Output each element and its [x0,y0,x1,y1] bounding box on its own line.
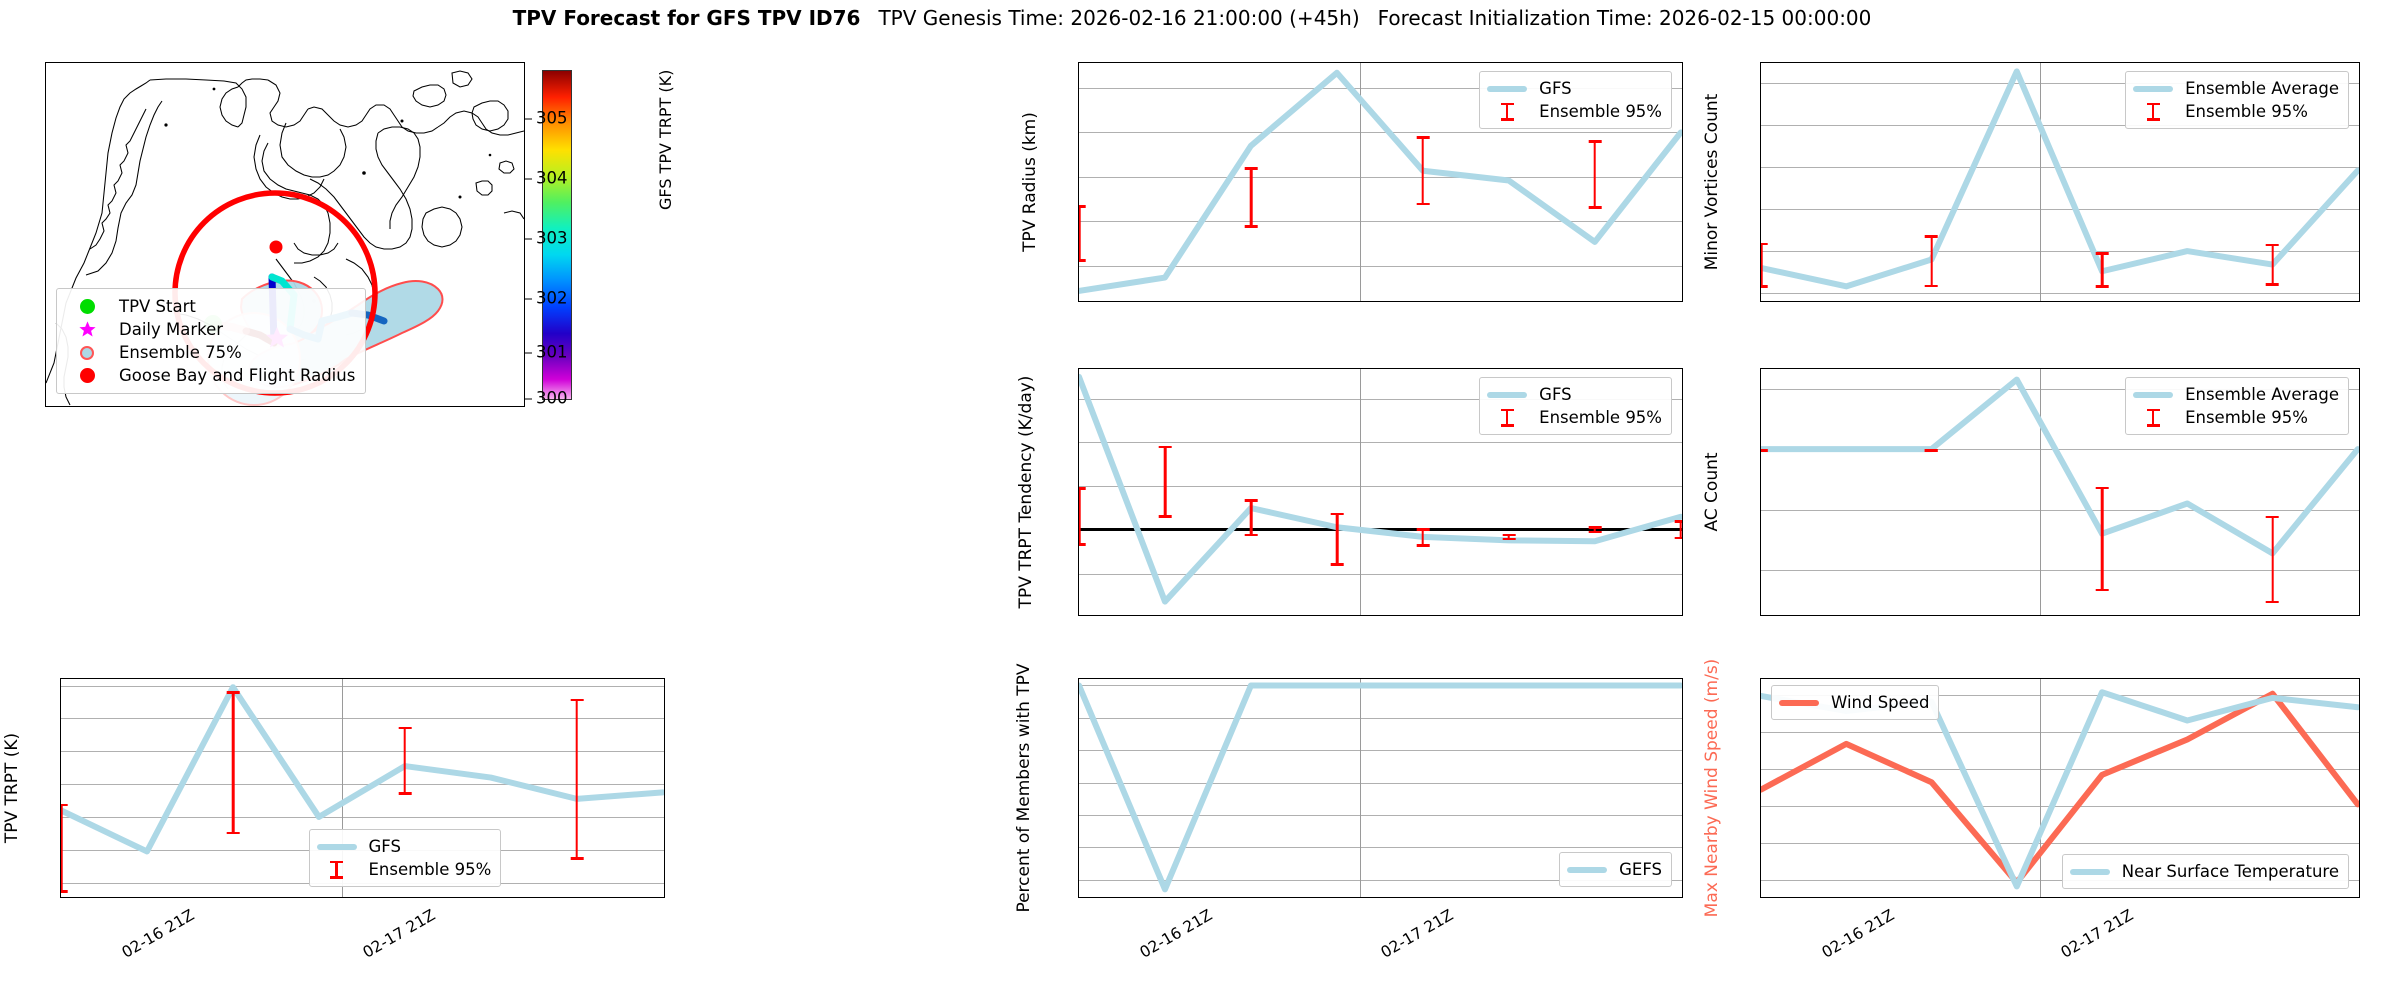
percent_members-ylabel: Percent of Members with TPV [1014,663,1034,912]
legend-line-swatch [2133,392,2173,398]
trpt_tendency-panel: −5051015GFSEnsemble 95%TPV TRPT Tendency… [1078,368,1683,616]
percent_members-axes[interactable]: 97.097.598.098.599.099.5100.0GEFS [1078,678,1683,898]
page-title: TPV Forecast for GFS TPV ID76TPV Genesis… [0,6,2384,30]
legend-error-swatch [2133,409,2173,427]
x-tick-label: 02-17 21Z [1378,906,1457,962]
legend-line-swatch [1779,700,1819,706]
ensemble-75-icon [67,346,107,360]
legend-label: Ensemble Average [2185,385,2339,404]
colorbar-tick: 304 [536,169,568,188]
wind_temp-ylabel: Max Nearby Wind Speed (m/s) [1702,659,1722,918]
legend-label: Ensemble 95% [369,860,492,879]
legend-row: Ensemble 95% [1487,100,1662,123]
ac_count-axes[interactable]: 0.60.81.01.2Ensemble AverageEnsemble 95% [1760,368,2360,616]
legend-label: GFS [369,837,401,856]
y-tick-mark-right [2359,861,2360,863]
legend-row: Ensemble 75% [67,341,355,364]
legend-row: Ensemble 95% [1487,406,1662,429]
error-bar [1250,499,1253,536]
tpv_radius-panel: 400450500550600GFSEnsemble 95%TPV Radius… [1078,62,1683,302]
legend-label: Daily Marker [119,320,223,339]
title-main: TPV Forecast for GFS TPV ID76 [513,6,861,30]
legend-error-swatch [1487,409,1527,427]
daily-marker-icon [67,321,107,338]
legend-row: GFS [1487,383,1662,406]
wind_temp-panel: 30.032.535.037.540.042.5273274275276277W… [1760,678,2360,898]
tpv_trpt-ylabel: TPV TRPT (K) [2,733,22,843]
map-legend: TPV Start Daily Marker Ensemble 75% Goos… [56,288,366,394]
legend-row: Ensemble 95% [2133,406,2339,429]
error-bar [1422,528,1425,547]
minor_vortices-panel: 0.000.250.500.751.001.25Ensemble Average… [1760,62,2360,302]
legend-label: Ensemble 95% [1539,408,1662,427]
legend-row: Daily Marker [67,318,355,341]
chart-legend: GFSEnsemble 95% [309,829,502,887]
legend-line-swatch [2070,869,2110,875]
goose-bay-marker [270,241,283,254]
error-bar [1930,449,1933,452]
legend-label: Near Surface Temperature [2122,862,2339,881]
tpv_radius-ylabel: TPV Radius (km) [1020,112,1040,252]
chart-legend-temp: Near Surface Temperature [2062,854,2349,889]
legend-label: Ensemble Average [2185,79,2339,98]
error-bar [1594,140,1597,209]
error-bar [1760,243,1762,288]
legend-row: Wind Speed [1779,691,1929,714]
legend-row: Ensemble Average [2133,383,2339,406]
colorbar-tick: 301 [536,343,568,362]
error-bar [60,804,62,893]
legend-label: TPV Start [119,297,196,316]
map-panel[interactable]: TPV Start Daily Marker Ensemble 75% Goos… [45,62,525,407]
legend-row: GFS [317,835,492,858]
legend-line-swatch [1487,392,1527,398]
error-bar [1250,167,1253,228]
x-tick-label: 02-16 21Z [119,906,198,962]
ac_count-panel: 0.60.81.01.2Ensemble AverageEnsemble 95%… [1760,368,2360,616]
legend-line-swatch [317,844,357,850]
y-tick-mark-right [2359,823,2360,825]
legend-label: GFS [1539,79,1571,98]
tpv_trpt-axes[interactable]: 299300301302303304305GFSEnsemble 95% [60,678,665,898]
x-tick-label: 02-16 21Z [1819,906,1898,962]
legend-label: Ensemble 95% [2185,102,2308,121]
goose-bay-icon [67,368,107,383]
error-bar [1680,520,1683,539]
colorbar-tick: 305 [536,109,568,128]
tpv_trpt-panel: 299300301302303304305GFSEnsemble 95%02-1… [60,678,665,898]
percent_members-panel: 97.097.598.098.599.099.5100.0GEFS02-16 2… [1078,678,1683,898]
chart-legend: Ensemble AverageEnsemble 95% [2125,71,2349,129]
error-bar [1508,534,1511,541]
legend-label: Ensemble 75% [119,343,242,362]
error-bar [404,727,407,795]
legend-row: GEFS [1567,858,1662,881]
error-bar [1930,235,1933,287]
error-bar [1422,136,1425,205]
title-genesis: TPV Genesis Time: 2026-02-16 21:00:00 (+… [878,6,1359,30]
colorbar-tick: 302 [536,289,568,308]
chart-legend: Ensemble AverageEnsemble 95% [2125,377,2349,435]
error-bar [1164,446,1167,519]
error-bar [2101,252,2104,288]
title-init: Forecast Initialization Time: 2026-02-15… [1378,6,1872,30]
y-tick-mark-right [2359,786,2360,788]
legend-label: Goose Bay and Flight Radius [119,366,355,385]
colorbar-label: GFS TPV TRPT (K) [656,70,675,210]
error-bar [1760,449,1762,452]
tpv-start-icon [67,299,107,314]
x-tick-label: 02-16 21Z [1137,906,1216,962]
series-line [61,687,663,851]
error-bar [232,691,235,834]
map-axes[interactable]: TPV Start Daily Marker Ensemble 75% Goos… [45,62,525,407]
colorbar-tick: 303 [536,229,568,248]
x-tick-label: 02-17 21Z [2057,906,2136,962]
error-bar [1078,205,1080,261]
chart-legend: GEFS [1559,852,1672,887]
colorbar-tick: 300 [536,389,568,408]
error-bar [1336,513,1339,566]
legend-row: Ensemble 95% [2133,100,2339,123]
wind_temp-axes[interactable]: 30.032.535.037.540.042.5273274275276277W… [1760,678,2360,898]
y-tick-mark-right [2359,710,2360,712]
error-bar [2101,487,2104,591]
legend-label: Ensemble 95% [1539,102,1662,121]
legend-line-swatch [1567,867,1607,873]
x-tick-label: 02-17 21Z [360,906,439,962]
error-bar [576,699,579,860]
legend-error-swatch [1487,103,1527,121]
chart-legend: GFSEnsemble 95% [1479,377,1672,435]
legend-error-swatch [317,861,357,879]
legend-row: GFS [1487,77,1662,100]
minor_vortices-ylabel: Minor Vortices Count [1702,94,1722,271]
legend-row: Ensemble 95% [317,858,492,881]
tpv_radius-axes[interactable]: 400450500550600GFSEnsemble 95% [1078,62,1683,302]
error-bar [1078,487,1080,546]
legend-line-swatch [1487,86,1527,92]
legend-label: GFS [1539,385,1571,404]
trpt_tendency-axes[interactable]: −5051015GFSEnsemble 95% [1078,368,1683,616]
y-tick-mark-right [2359,748,2360,750]
ac_count-ylabel: AC Count [1702,452,1722,531]
error-bar [2271,516,2274,604]
legend-row: Goose Bay and Flight Radius [67,364,355,387]
legend-row: Near Surface Temperature [2070,860,2339,883]
legend-label: GEFS [1619,860,1662,879]
legend-label: Ensemble 95% [2185,408,2308,427]
chart-legend-wind: Wind Speed [1771,685,1939,720]
error-bar [1594,526,1597,533]
chart-legend: GFSEnsemble 95% [1479,71,1672,129]
legend-error-swatch [2133,103,2173,121]
legend-label: Wind Speed [1831,693,1929,712]
legend-row: Ensemble Average [2133,77,2339,100]
legend-row: TPV Start [67,295,355,318]
trpt_tendency-ylabel: TPV TRPT Tendency (K/day) [1016,376,1036,609]
legend-line-swatch [2133,86,2173,92]
minor_vortices-axes[interactable]: 0.000.250.500.751.001.25Ensemble Average… [1760,62,2360,302]
error-bar [2271,244,2274,286]
